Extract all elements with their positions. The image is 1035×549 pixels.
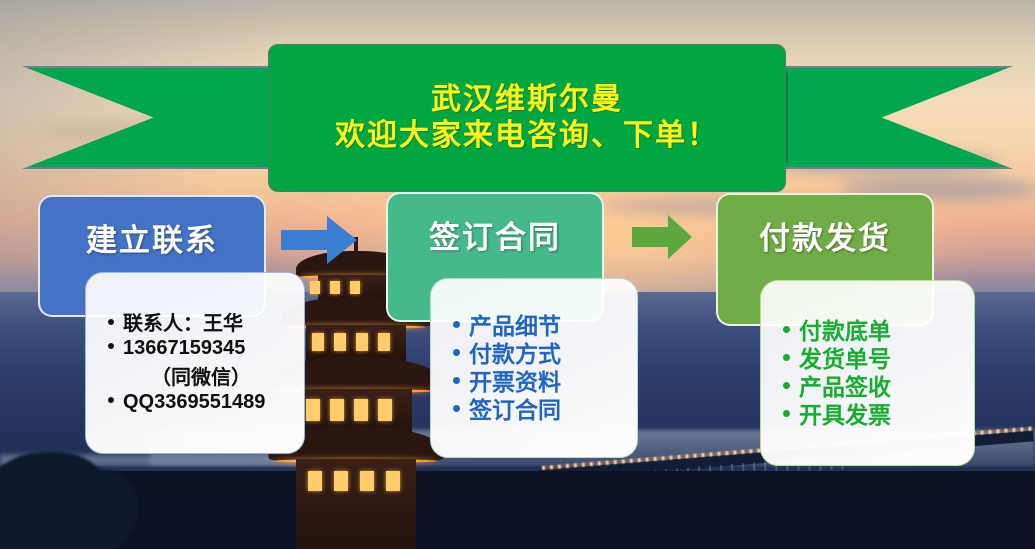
list-item: 产品签收	[783, 373, 962, 401]
bullet-icon	[108, 319, 114, 325]
list-item: 开具发票	[783, 401, 962, 429]
step-2-item-1: 产品细节	[469, 312, 561, 340]
bullet-icon	[453, 405, 460, 412]
list-item: QQ3369551489	[108, 390, 292, 414]
step-2-item-3: 开票资料	[469, 368, 561, 396]
list-item: 付款方式	[453, 340, 625, 368]
bullet-icon	[108, 397, 114, 403]
list-item: 13667159345	[108, 336, 292, 360]
step-3-title: 付款发货	[759, 213, 891, 258]
banner-center-panel: 武汉维斯尔曼 欢迎大家来电咨询、下单！	[268, 44, 786, 192]
bullet-icon	[453, 349, 460, 356]
step-2-item-4: 签订合同	[469, 396, 561, 424]
banner-ribbon: 武汉维斯尔曼 欢迎大家来电咨询、下单！	[0, 66, 1035, 169]
bullet-icon	[453, 377, 460, 384]
arrow-right-icon-1	[281, 216, 357, 264]
step-3-card: 付款底单 发货单号 产品签收 开具发票	[760, 280, 975, 466]
step-3-item-2: 发货单号	[799, 345, 891, 373]
step-2-item-2: 付款方式	[469, 340, 561, 368]
step-3-item-1: 付款底单	[799, 317, 891, 345]
list-item: 签订合同	[453, 396, 625, 424]
step-3-list: 付款底单 发货单号 产品签收 开具发票	[761, 317, 974, 429]
step-2-title: 签订合同	[429, 212, 561, 257]
list-item: 发货单号	[783, 345, 962, 373]
step-1-item-1: 联系人：王华	[123, 312, 243, 336]
step-1-subnote: （同微信）	[108, 361, 292, 390]
bullet-icon	[783, 354, 790, 361]
list-item: 付款底单	[783, 317, 962, 345]
step-1-card: 联系人：王华 13667159345 （同微信） QQ3369551489	[85, 272, 305, 454]
list-item: 开票资料	[453, 368, 625, 396]
step-3-item-4: 开具发票	[799, 401, 891, 429]
step-1-list: 联系人：王华 13667159345 （同微信） QQ3369551489	[86, 312, 304, 414]
step-1-item-3: QQ3369551489	[123, 390, 265, 414]
step-3-item-3: 产品签收	[799, 373, 891, 401]
bullet-icon	[108, 343, 114, 349]
city-skyline	[0, 471, 1035, 549]
step-1-item-2: 13667159345	[123, 336, 245, 360]
bullet-icon	[783, 410, 790, 417]
list-item: 产品细节	[453, 312, 625, 340]
foreground-tree	[48, 470, 138, 549]
arrow-right-icon-2	[632, 215, 692, 259]
step-2-card: 产品细节 付款方式 开票资料 签订合同	[430, 278, 638, 458]
step-1-title: 建立联系	[86, 215, 218, 260]
bullet-icon	[453, 321, 460, 328]
bullet-icon	[783, 382, 790, 389]
list-item: 联系人：王华	[108, 312, 292, 336]
bullet-icon	[783, 326, 790, 333]
banner-title-line-1: 武汉维斯尔曼	[431, 83, 623, 118]
banner-title-line-2: 欢迎大家来电咨询、下单！	[335, 119, 719, 154]
poster-canvas: 武汉维斯尔曼 欢迎大家来电咨询、下单！ 建立联系 联系人：王华 13667159…	[0, 0, 1035, 549]
step-2-list: 产品细节 付款方式 开票资料 签订合同	[431, 312, 637, 424]
